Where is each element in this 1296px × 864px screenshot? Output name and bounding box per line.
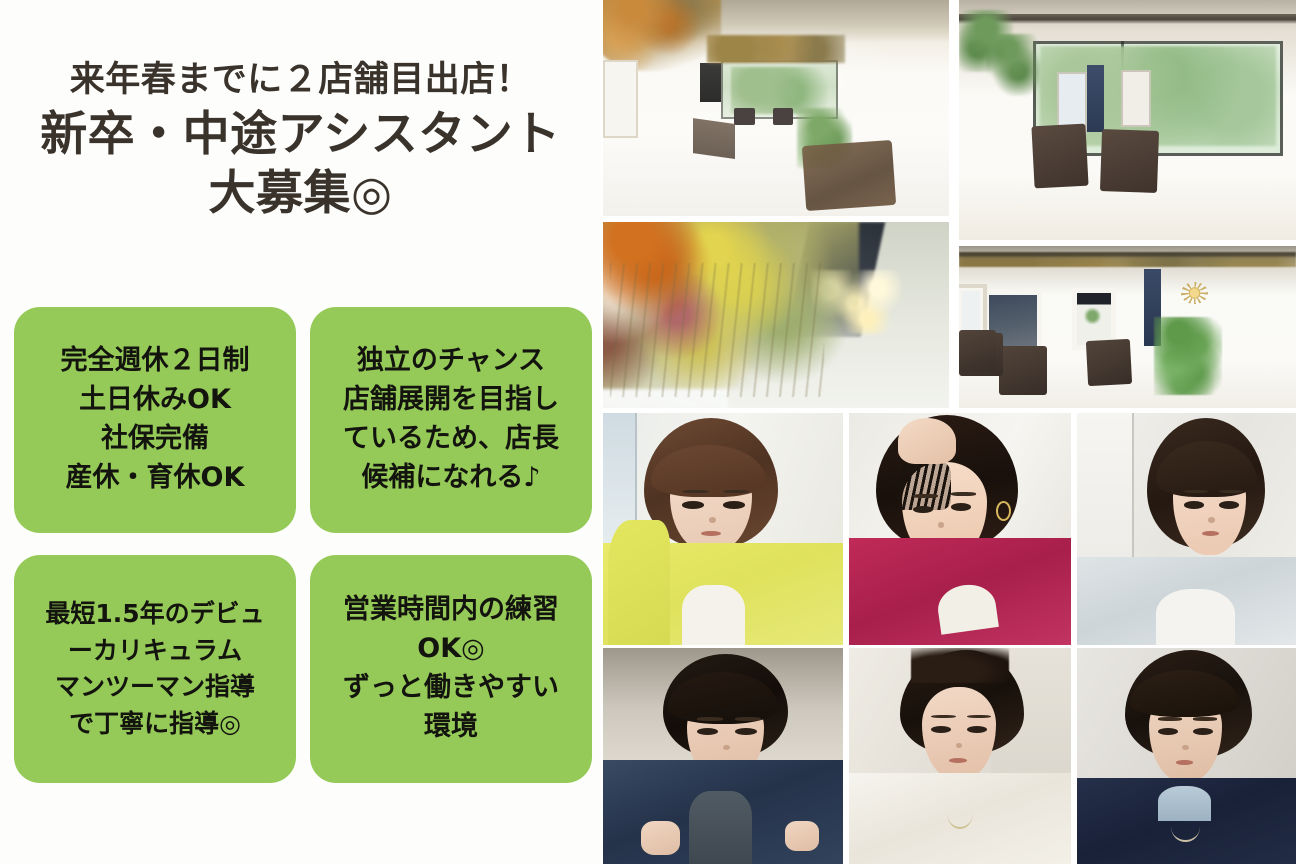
benefit-line: 店舗展開を目指し <box>343 381 559 420</box>
benefit-line: 営業時間内の練習 <box>343 591 559 630</box>
photo-model-woman-yellow <box>603 413 843 645</box>
benefit-line: で丁寧に指導◎ <box>69 706 241 743</box>
benefit-line: 最短1.5年のデビュ <box>45 596 264 633</box>
benefit-line: 土日休みOK <box>79 381 231 420</box>
photo-salon-gallery-wall <box>959 246 1296 408</box>
benefit-cards-grid: 完全週休２日制 土日休みOK 社保完備 産休・育休OK 独立のチャンス 店舗展開… <box>14 307 592 783</box>
benefit-line: 独立のチャンス <box>357 342 545 381</box>
benefit-line: ているため、店長 <box>343 420 559 459</box>
benefit-line: 産休・育休OK <box>66 459 245 498</box>
photo-model-woman-white <box>1077 413 1296 645</box>
benefit-line: OK◎ <box>417 630 484 669</box>
photo-model-man-navy <box>603 648 843 864</box>
benefit-line: ずっと働きやすい <box>343 669 559 708</box>
benefit-card-holidays: 完全週休２日制 土日休みOK 社保完備 産休・育休OK <box>14 307 296 533</box>
photo-dried-flowers <box>603 222 949 408</box>
photo-model-woman-pink <box>849 413 1071 645</box>
benefit-line: マンツーマン指導 <box>55 669 255 706</box>
benefit-line: 候補になれる♪ <box>361 459 540 498</box>
benefit-card-curriculum: 最短1.5年のデビュ ーカリキュラム マンツーマン指導 で丁寧に指導◎ <box>14 555 296 783</box>
headline-line-2: 新卒・中途アシスタント <box>0 105 601 164</box>
photo-collage <box>601 0 1296 864</box>
headline-line-3: 大募集◎ <box>0 164 601 223</box>
left-content-panel: 来年春までに２店舗目出店！ 新卒・中途アシスタント 大募集◎ 完全週休２日制 土… <box>0 0 601 864</box>
headline-line-1: 来年春までに２店舗目出店！ <box>0 58 601 103</box>
benefit-card-training: 営業時間内の練習 OK◎ ずっと働きやすい 環境 <box>310 555 592 783</box>
recruitment-ad: 来年春までに２店舗目出店！ 新卒・中途アシスタント 大募集◎ 完全週休２日制 土… <box>0 0 1296 864</box>
benefit-card-independence: 独立のチャンス 店舗展開を目指し ているため、店長 候補になれる♪ <box>310 307 592 533</box>
benefit-line: 完全週休２日制 <box>61 342 250 381</box>
benefit-line: 社保完備 <box>101 420 209 459</box>
benefit-line: 環境 <box>424 708 478 747</box>
headline-block: 来年春までに２店舗目出店！ 新卒・中途アシスタント 大募集◎ <box>0 58 601 223</box>
photo-salon-corridor <box>603 0 949 216</box>
benefit-line: ーカリキュラム <box>68 633 242 670</box>
photo-model-man-white <box>849 648 1071 864</box>
photo-salon-window-wall <box>959 0 1296 240</box>
photo-model-man-sweater <box>1077 648 1296 864</box>
